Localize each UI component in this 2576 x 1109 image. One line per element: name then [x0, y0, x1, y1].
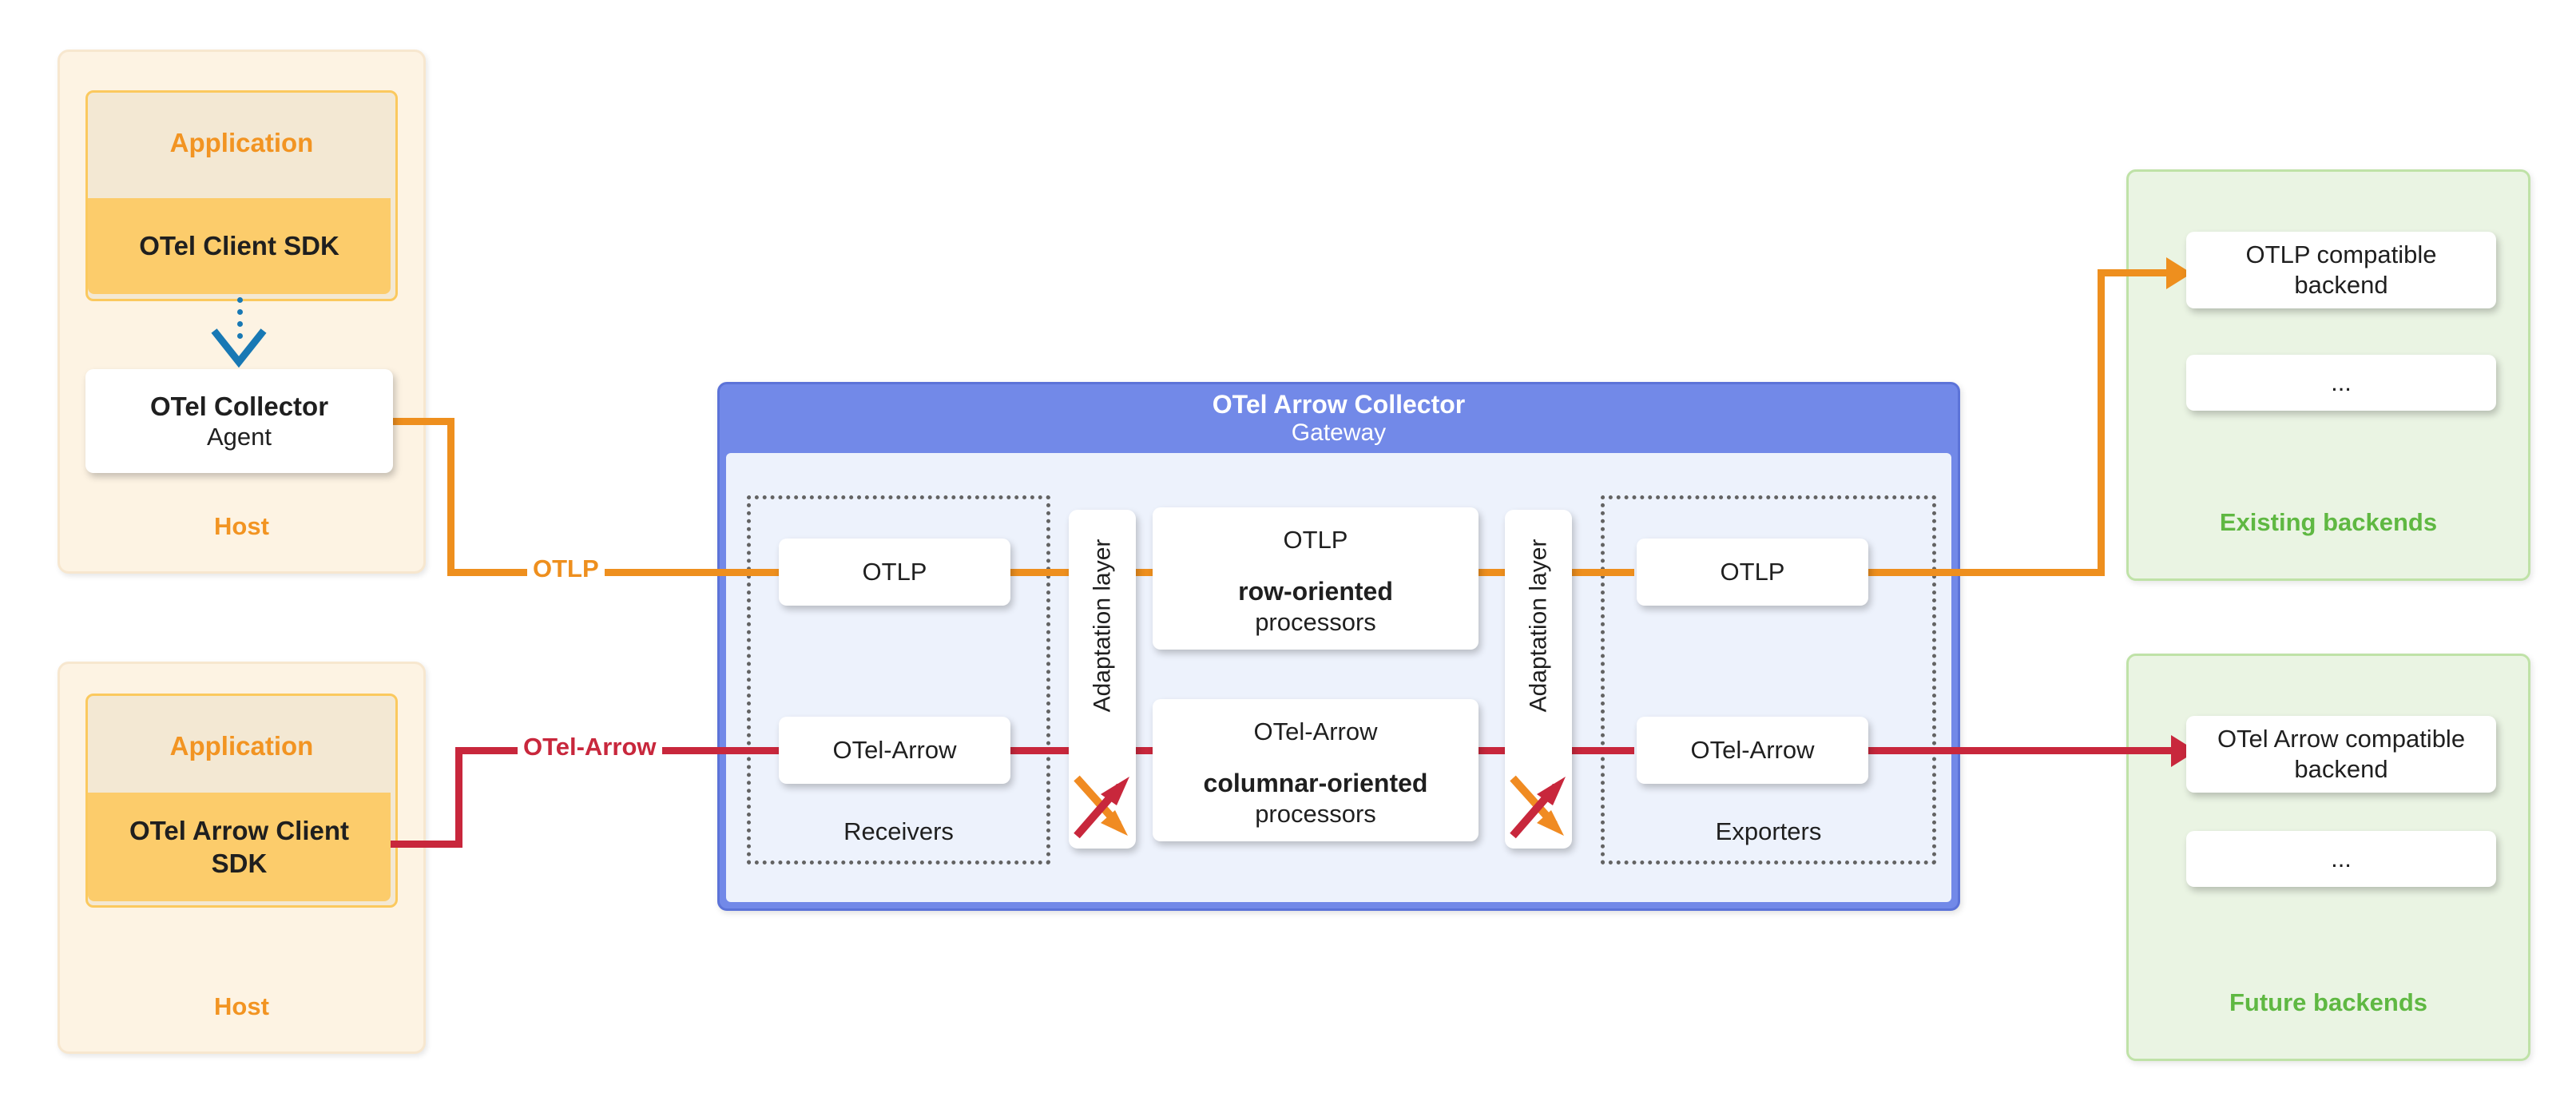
otlp-edge-seg-1 — [391, 418, 454, 425]
otel-arrow-client-sdk-label: OTel Arrow Client SDK — [120, 814, 359, 880]
host-label-2: Host — [60, 992, 423, 1021]
otlp-edge-label: OTLP — [527, 554, 605, 583]
exporters-label: Exporters — [1605, 817, 1932, 846]
otlp-out-seg-2 — [2098, 269, 2105, 573]
existing-backends-label: Existing backends — [2129, 508, 2528, 537]
application-title-2: Application — [88, 731, 395, 761]
processor-card-col-kind: columnar-oriented — [1204, 768, 1428, 799]
otlp-out-seg-1 — [1861, 569, 2105, 576]
receiver-card-otel-arrow: OTel-Arrow — [779, 717, 1010, 784]
otel-arrow-edge-label: OTel-Arrow — [518, 733, 662, 761]
receiver-card-otlp-label: OTLP — [863, 557, 927, 587]
host-label-1: Host — [60, 512, 423, 541]
otlp-flow-adapt2-out — [1566, 569, 1634, 576]
otel-arrow-flow-adapt2-out — [1566, 747, 1634, 754]
otel-arrow-out-seg-1 — [1861, 747, 2174, 754]
otlp-out-seg-3 — [2098, 269, 2169, 276]
otel-client-sdk-label: OTel Client SDK — [139, 229, 339, 262]
processor-card-col-noun: processors — [1255, 799, 1376, 829]
exporter-card-otel-arrow: OTel-Arrow — [1637, 717, 1868, 784]
backend-card-otlp-compatible: OTLP compatible backend — [2186, 232, 2496, 308]
backend-card-existing-more: ... — [2186, 355, 2496, 411]
receivers-label: Receivers — [751, 817, 1046, 846]
otel-arrow-edge-seg-1 — [391, 841, 462, 848]
crossing-arrows-icon-1 — [1069, 770, 1136, 842]
exporter-card-otel-arrow-label: OTel-Arrow — [1690, 735, 1814, 765]
otel-arrow-edge-seg-2 — [455, 747, 462, 845]
processor-card-row-noun: processors — [1255, 607, 1376, 638]
collector-header: OTel Arrow Collector Gateway — [720, 384, 1958, 453]
exporter-card-otlp-label: OTLP — [1721, 557, 1785, 587]
otel-client-sdk-box: OTel Client SDK — [88, 198, 391, 294]
backend-card-future-more: ... — [2186, 831, 2496, 887]
collector-title: OTel Arrow Collector — [1213, 390, 1465, 419]
diagram-canvas: Host Application OTel Client SDK OTel Co… — [0, 0, 2576, 1109]
processor-card-row-protocol: OTLP — [1284, 525, 1348, 555]
crossing-arrows-icon-2 — [1505, 770, 1572, 842]
backend-card-otlp-compatible-label: OTLP compatible backend — [2205, 240, 2477, 300]
receiver-card-otel-arrow-label: OTel-Arrow — [832, 735, 956, 765]
backend-card-existing-more-label: ... — [2331, 368, 2352, 398]
exporter-card-otlp: OTLP — [1637, 539, 1868, 606]
processor-card-columnar-oriented: OTel-Arrow columnar-oriented processors — [1153, 699, 1479, 841]
backend-card-otel-arrow-compatible-label: OTel Arrow compatible backend — [2193, 724, 2489, 785]
dotted-down-arrow-icon — [209, 326, 268, 368]
backend-card-future-more-label: ... — [2331, 844, 2352, 874]
receiver-card-otlp: OTLP — [779, 539, 1010, 606]
application-title-1: Application — [88, 128, 395, 158]
processor-card-row-kind: row-oriented — [1238, 576, 1393, 607]
otel-collector-agent-card: OTel Collector Agent — [85, 369, 393, 473]
otel-collector-agent-title: OTel Collector — [150, 391, 328, 423]
adaptation-layer-2-label: Adaptation layer — [1525, 539, 1552, 713]
adaptation-layer-2: Adaptation layer — [1505, 510, 1572, 849]
processor-card-row-oriented: OTLP row-oriented processors — [1153, 507, 1479, 650]
backend-card-otel-arrow-compatible: OTel Arrow compatible backend — [2186, 716, 2496, 793]
adaptation-layer-1-label: Adaptation layer — [1089, 539, 1116, 713]
otel-collector-agent-subtitle: Agent — [207, 422, 272, 451]
otel-arrow-client-sdk-box: OTel Arrow Client SDK — [88, 793, 391, 901]
otlp-edge-seg-2 — [447, 418, 454, 576]
collector-subtitle: Gateway — [1292, 419, 1386, 447]
future-backends-label: Future backends — [2129, 988, 2528, 1017]
processor-card-col-protocol: OTel-Arrow — [1253, 717, 1377, 747]
adaptation-layer-1: Adaptation layer — [1069, 510, 1136, 849]
